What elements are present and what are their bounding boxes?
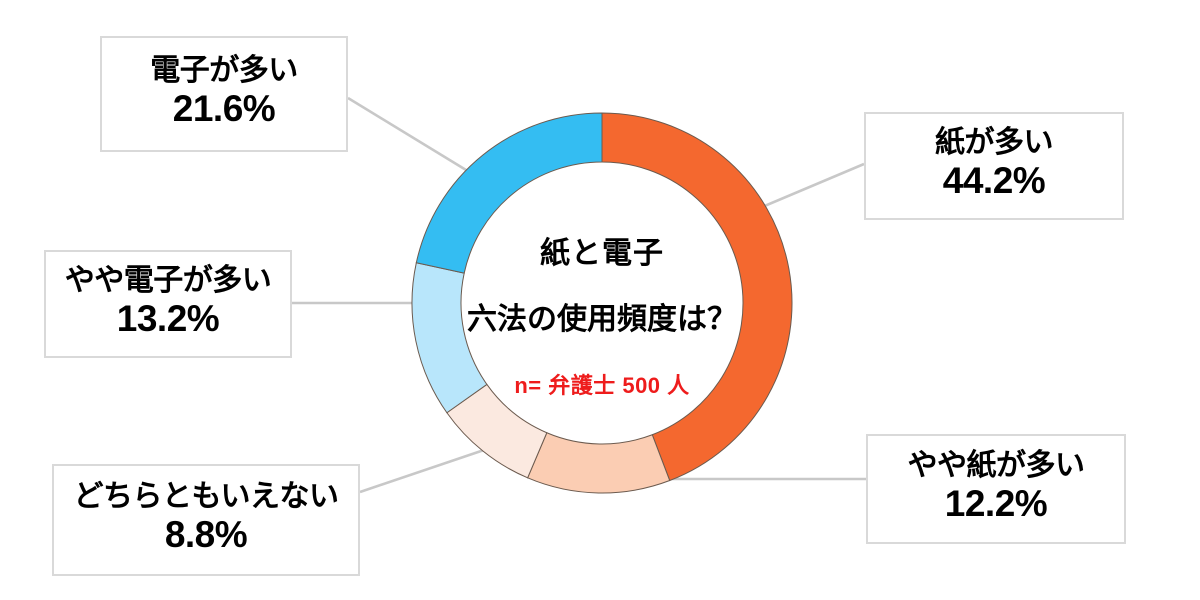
callout-denshi-label: 電子が多い — [150, 55, 298, 87]
callout-denshi-value: 21.6% — [173, 89, 275, 129]
callout-yaya-kami-label: やや紙が多い — [908, 450, 1085, 482]
callout-yaya-kami: やや紙が多い 12.2% — [866, 434, 1126, 544]
callout-dochira-label: どちらともいえない — [74, 481, 339, 513]
donut-slice — [412, 263, 487, 413]
donut-slice — [528, 433, 670, 493]
donut-slice — [416, 113, 602, 273]
callout-dochira-value: 8.8% — [165, 515, 247, 555]
callout-kami: 紙が多い 44.2% — [864, 112, 1124, 220]
callout-yaya-kami-value: 12.2% — [945, 484, 1047, 524]
callout-dochira: どちらともいえない 8.8% — [52, 464, 360, 576]
callout-denshi: 電子が多い 21.6% — [100, 36, 348, 152]
donut-slices — [412, 113, 792, 493]
callout-kami-label: 紙が多い — [935, 127, 1053, 159]
callout-yaya-denshi-value: 13.2% — [117, 299, 219, 339]
callout-kami-value: 44.2% — [943, 161, 1045, 201]
leader-line-dochira — [360, 449, 487, 492]
donut-slice — [602, 113, 792, 481]
callout-yaya-denshi: やや電子が多い 13.2% — [44, 250, 292, 358]
callout-yaya-denshi-label: やや電子が多い — [65, 265, 272, 297]
donut-chart: 紙と電子 六法の使用頻度は？ n= 弁護士 500 人 電子が多い 21.6% … — [0, 0, 1200, 600]
